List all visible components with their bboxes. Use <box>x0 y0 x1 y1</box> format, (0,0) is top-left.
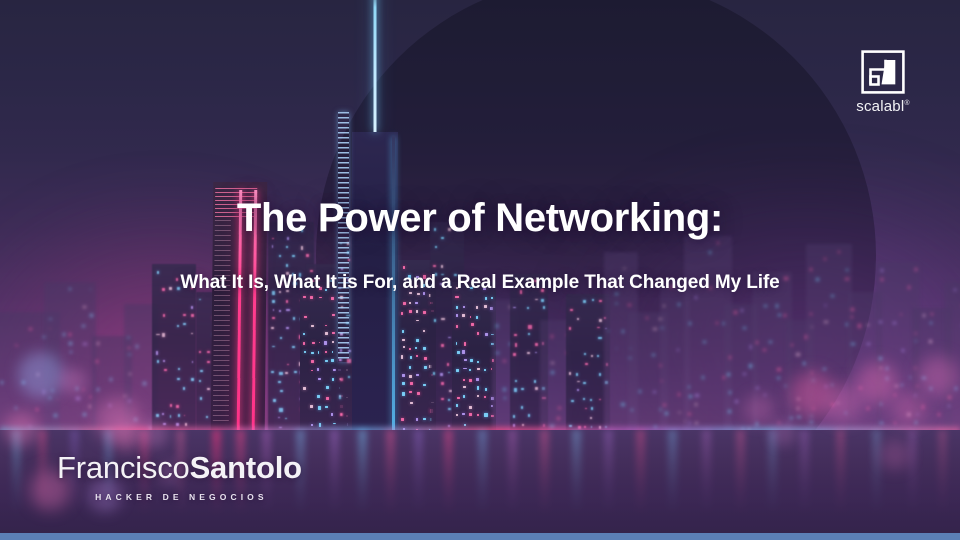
speaker-logo: FranciscoSantolo HACKER DE NEGOCIOS <box>57 452 302 502</box>
page-title: The Power of Networking: <box>0 196 960 241</box>
bottom-accent-bar <box>0 533 960 540</box>
presentation-slide: The Power of Networking: What It Is, Wha… <box>0 0 960 540</box>
page-subtitle: What It Is, What It is For, and a Real E… <box>0 272 960 294</box>
brand-wordmark-text: scalabl <box>856 98 904 115</box>
trademark-symbol: ® <box>904 100 909 107</box>
brand-logo: scalabl® <box>847 50 919 114</box>
speaker-first-name: Francisco <box>57 450 190 485</box>
brand-wordmark: scalabl® <box>847 99 919 114</box>
scalabl-square-mark-icon <box>861 50 905 94</box>
speaker-tagline: HACKER DE NEGOCIOS <box>57 492 302 502</box>
speaker-name: FranciscoSantolo <box>57 452 302 483</box>
speaker-last-name: Santolo <box>190 450 302 485</box>
